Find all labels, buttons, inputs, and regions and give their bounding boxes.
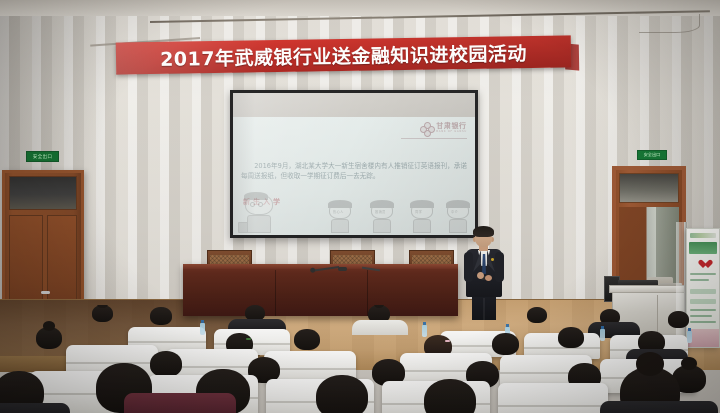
speaker-lapel-pin: [491, 258, 494, 261]
bank-logo-icon: [420, 122, 433, 135]
audience-shoulders: [0, 403, 70, 413]
event-banner-text: 2017年武威银行业送金融知识进校园活动: [160, 39, 527, 72]
screen-blank-band: [233, 93, 475, 117]
cartoon-hair: [410, 200, 434, 208]
slide-body-text: 2016年9月，湖北某大学大一新生宿舍楼内有人推销征订英语报刊，承诺每周送报纸，…: [241, 161, 467, 181]
rollup-title-block: [689, 242, 717, 254]
audience-head: [492, 333, 519, 355]
water-bottle: [687, 331, 692, 343]
audience-head: [294, 329, 320, 350]
door-left-transom: [9, 176, 77, 210]
cartoon-body: [413, 219, 431, 233]
cartoon-figure: 热心人: [329, 202, 351, 233]
cartoon-label: 中介: [451, 209, 458, 214]
audience-head: [316, 375, 368, 413]
cartoon-figure: 推销员: [371, 202, 393, 233]
door-left-handle[interactable]: [41, 291, 50, 294]
cartoon-head: 中介: [447, 202, 469, 219]
cartoon-label: 同学: [415, 209, 422, 214]
presentation-slide: 甘肃银行 BANK OF GANSU 2016年9月，湖北某大学大一新生宿舍楼内…: [233, 117, 475, 235]
cartoon-head: 热心人: [329, 202, 351, 219]
cartoon-eye: [258, 202, 263, 207]
audience-head: [150, 351, 182, 377]
cartoon-figure: 同学: [411, 202, 433, 233]
cartoon-label: 推销员: [375, 209, 386, 214]
cartoon-head: 同学: [411, 202, 433, 219]
heart-icon: [698, 260, 708, 269]
cartoon-hair: [370, 200, 394, 208]
audience-head: [92, 305, 113, 322]
speaker-hair: [473, 226, 494, 237]
auditorium-scene: 2017年武威银行业送金融知识进校园活动 甘肃银行 BANK OF GANSU …: [0, 0, 720, 413]
audience-head: [558, 327, 584, 348]
audience-area: [0, 305, 720, 413]
speaker-hand: [477, 272, 484, 279]
projection-screen: 甘肃银行 BANK OF GANSU 2016年9月，湖北某大学大一新生宿舍楼内…: [230, 90, 478, 238]
screen-shading: [233, 93, 255, 235]
microphone-base: [338, 267, 347, 271]
bank-logo-en: BANK OF GANSU: [436, 131, 467, 134]
audience-head: [150, 307, 172, 325]
door-right-transom: [619, 173, 679, 203]
audience-head: [36, 327, 62, 349]
audience-shoulders: [600, 401, 718, 413]
bank-logo-text: 甘肃银行 BANK OF GANSU: [436, 123, 467, 134]
cartoon-body: [331, 219, 349, 233]
speaker-hand: [485, 275, 492, 281]
water-bottle: [200, 323, 205, 335]
exit-sign-left: 安全出口: [26, 151, 59, 162]
water-bottle: [600, 329, 605, 341]
cartoon-head: 推销员: [371, 202, 393, 219]
slide-cartoon-row: 热心人 推销员 同学: [233, 197, 475, 233]
exit-sign-right: 安全出口: [637, 150, 667, 160]
slide-logo-underline: [401, 138, 467, 139]
ceiling-wire: [639, 14, 700, 33]
audience-head: [668, 311, 689, 328]
exit-sign-left-text: 安全出口: [33, 154, 53, 160]
bank-logo: 甘肃银行 BANK OF GANSU: [420, 122, 467, 135]
cartoon-body: [373, 219, 391, 233]
speaker-arm: [464, 252, 473, 282]
speaker-arm: [495, 252, 504, 282]
audience-head: [527, 307, 547, 323]
audience-seat: [498, 383, 608, 413]
audience-shoulders: [352, 320, 408, 335]
rollup-logo: [690, 233, 716, 238]
audience-head: [424, 379, 476, 413]
cartoon-hair: [328, 200, 352, 208]
exit-sign-right-text: 安全出口: [644, 152, 661, 158]
cartoon-hair: [446, 200, 470, 208]
cartoon-label: 热心人: [333, 209, 344, 214]
projection-screen-surface: 甘肃银行 BANK OF GANSU 2016年9月，湖北某大学大一新生宿舍楼内…: [233, 93, 475, 235]
audience-shoulders: [124, 393, 236, 413]
water-bottle: [422, 325, 427, 337]
